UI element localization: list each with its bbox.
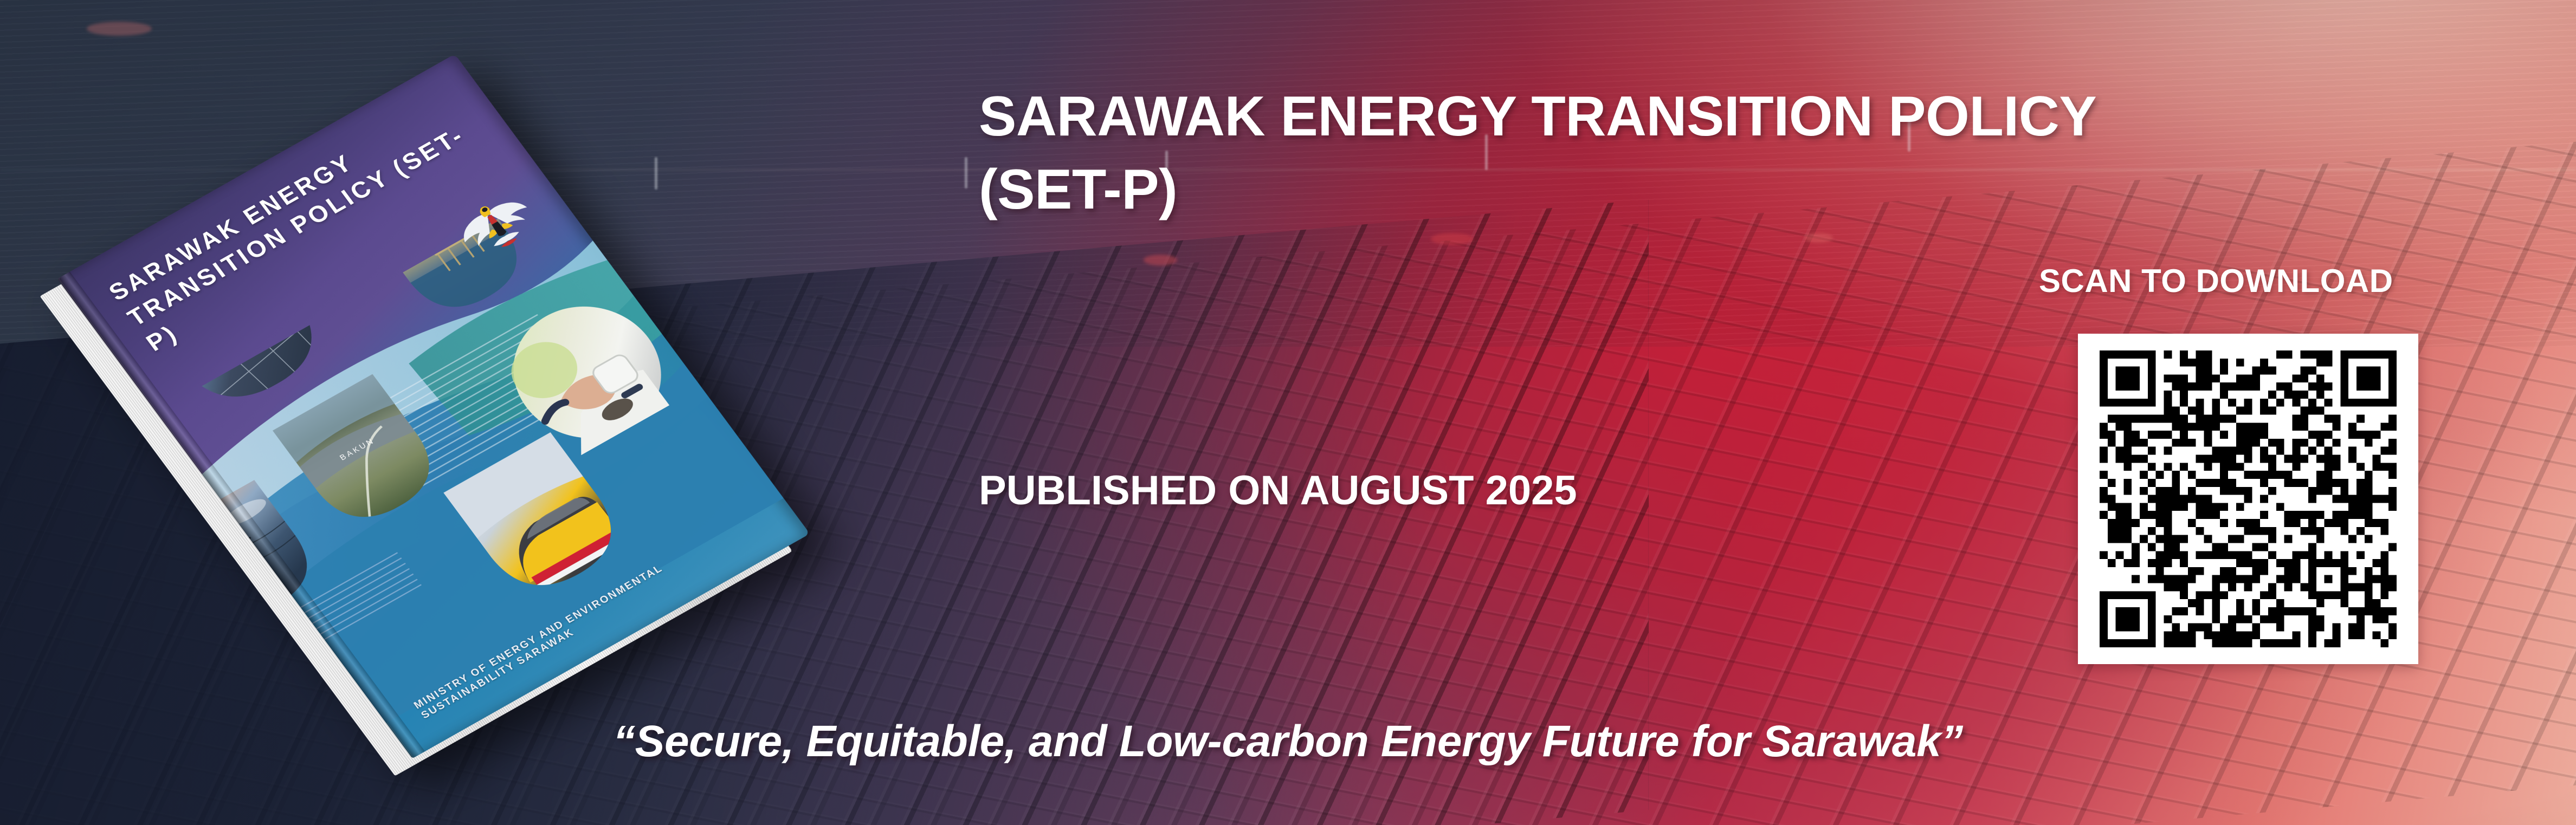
qr-code-panel[interactable]	[2078, 334, 2418, 664]
page-title: SARAWAK ENERGY TRANSITION POLICY (SET-P)	[979, 80, 2117, 226]
publication-date: PUBLISHED ON AUGUST 2025	[979, 467, 1577, 514]
tagline: “Secure, Equitable, and Low-carbon Energ…	[0, 716, 2576, 767]
qr-code-icon[interactable]	[2100, 350, 2397, 647]
book-mockup: BAKUN	[65, 49, 867, 731]
book-front-cover: BAKUN	[57, 54, 810, 758]
scan-to-download-label: SCAN TO DOWNLOAD	[2039, 262, 2393, 300]
banner-canvas: BAKUN	[0, 0, 2576, 825]
